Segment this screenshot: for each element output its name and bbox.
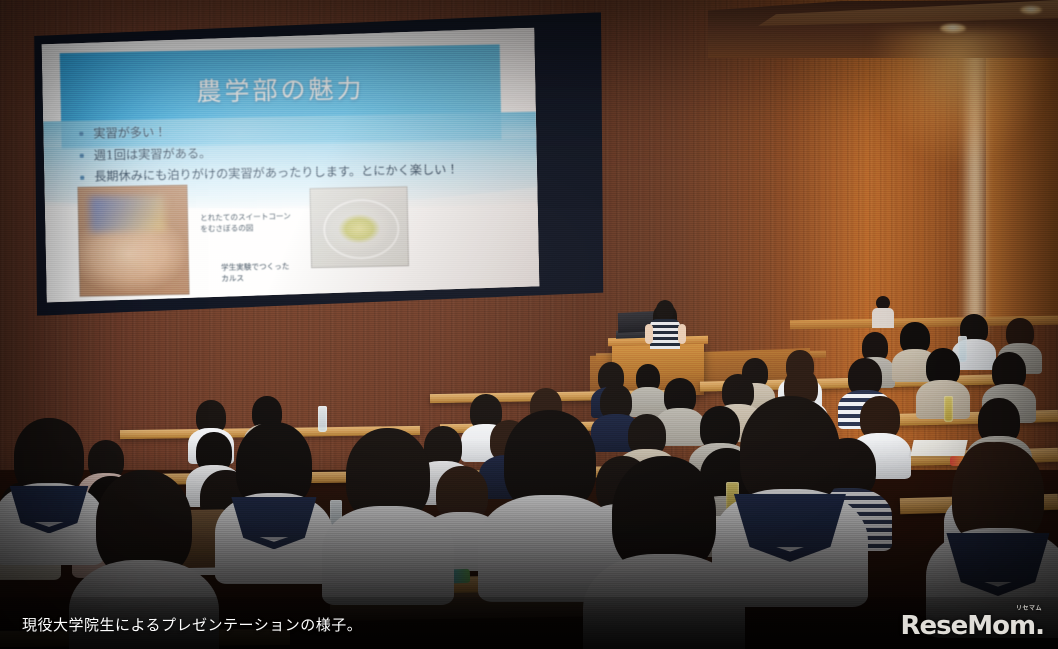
presentation-slide: 農学部の魅力 実習が多い！ 週1回は実習がある。 長期休みにも泊りがけの実習があ…	[41, 28, 539, 303]
attendee	[848, 358, 882, 396]
downlight-cone	[855, 30, 1058, 290]
attendee	[636, 364, 660, 392]
sailor-collar	[231, 497, 316, 549]
slide-photo-callus	[309, 186, 409, 268]
screen-surface: 農学部の魅力 実習が多い！ 週1回は実習がある。 長期休みにも泊りがけの実習があ…	[41, 28, 539, 303]
attendee	[992, 352, 1026, 390]
watermark-text: ReseMom.	[901, 611, 1044, 641]
resemom-watermark: ReseMom. リセマム	[901, 613, 1044, 639]
slide-bullet-list: 実習が多い！ 週1回は実習がある。 長期休みにも泊りがけの実習があったりします。…	[77, 116, 508, 189]
attendee	[612, 456, 716, 574]
attendee-torso	[916, 380, 969, 420]
attendee	[926, 348, 960, 386]
photo-caption: 現役大学院生によるプレゼンテーションの様子。	[22, 614, 362, 635]
sailor-collar	[10, 486, 89, 533]
attendee-torso	[322, 506, 453, 605]
attendee	[860, 396, 900, 440]
downlight-icon	[1020, 6, 1042, 14]
water-bottle	[944, 396, 953, 422]
slide-photo-corn	[77, 185, 189, 297]
attendee	[740, 396, 840, 508]
watermark-superscript: リセマム	[1016, 606, 1042, 612]
attendee	[978, 398, 1020, 444]
attendee	[1006, 318, 1034, 348]
attendee-torso	[0, 483, 104, 565]
water-bottle	[318, 406, 327, 432]
attendee	[96, 470, 192, 578]
projection-screen: 農学部の魅力 実習が多い！ 週1回は実習がある。 長期休みにも泊りがけの実習があ…	[31, 12, 607, 315]
downlight-icon	[940, 24, 966, 33]
attendee	[628, 414, 666, 456]
attendee	[196, 400, 226, 434]
attendee	[14, 418, 84, 496]
attendee	[664, 378, 696, 414]
lecture-hall-photo: 農学部の魅力 実習が多い！ 週1回は実習がある。 長期休みにも泊りがけの実習があ…	[0, 0, 1058, 649]
attendee	[504, 410, 596, 512]
slide-photo-caption: とれたてのスイートコーン をむさぼるの図	[200, 210, 305, 234]
slide-photo-caption: 学生実験でつくった カルス	[221, 260, 316, 284]
sailor-collar	[946, 533, 1049, 596]
attendee	[346, 428, 430, 522]
sailor-collar	[734, 494, 846, 562]
attendee	[196, 432, 232, 472]
attendee	[236, 422, 312, 508]
attendee	[952, 442, 1044, 546]
attendee-torso	[215, 493, 334, 583]
attendee	[700, 406, 740, 450]
attendee	[436, 466, 488, 522]
